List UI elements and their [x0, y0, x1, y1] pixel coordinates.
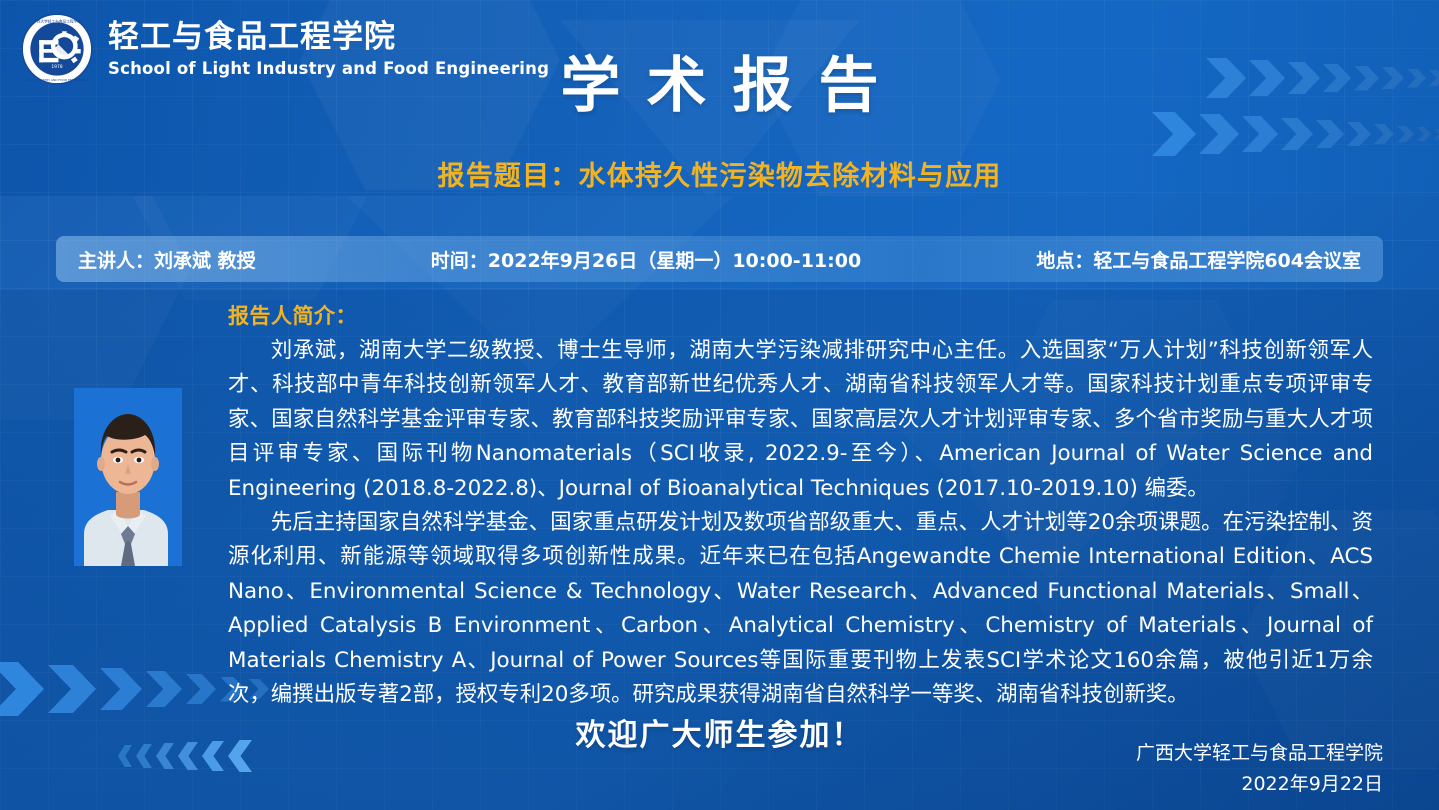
- chevron-right-icon: [1397, 126, 1414, 143]
- bio-heading: 报告人简介：: [228, 300, 357, 330]
- chevron-right-icon: [1242, 116, 1278, 152]
- signature-organization: 广西大学轻工与食品工程学院: [1136, 738, 1383, 769]
- chevron-right-icon: [1281, 118, 1313, 150]
- speaker-portrait: [74, 388, 182, 566]
- chevron-right-icon: [1434, 129, 1439, 140]
- event-info-bar: 主讲人：刘承斌 教授 时间：2022年9月26日（星期一）10:00-11:00…: [56, 236, 1383, 282]
- signature-block: 广西大学轻工与食品工程学院 2022年9月22日: [1136, 738, 1383, 801]
- speaker-info: 主讲人：刘承斌 教授: [78, 246, 256, 273]
- page-title: 学术报告: [0, 56, 1439, 116]
- bio-paragraph-2: 先后主持国家自然科学基金、国家重点研发计划及数项省部级重大、重点、人才计划等20…: [228, 506, 1373, 712]
- portrait-image: [74, 388, 182, 566]
- chevron-right-icon: [1316, 120, 1344, 148]
- time-info: 时间：2022年9月26日（星期一）10:00-11:00: [256, 246, 1037, 273]
- chevron-decoration-mid-right: [1152, 112, 1439, 156]
- chevron-right-icon: [146, 671, 182, 707]
- svg-text:广西大学轻工与食品工程学院: 广西大学轻工与食品工程学院: [33, 18, 81, 23]
- bio-text: 刘承斌，湖南大学二级教授、博士生导师，湖南大学污染减排研究中心主任。入选国家“万…: [228, 334, 1373, 712]
- chevron-right-icon: [100, 668, 142, 710]
- report-subtitle: 报告题目：水体持久性污染物去除材料与应用: [0, 160, 1439, 194]
- chevron-right-icon: [1152, 112, 1196, 156]
- chevron-right-icon: [1347, 122, 1371, 146]
- chevron-right-icon: [186, 674, 216, 704]
- chevron-right-icon: [48, 665, 96, 713]
- signature-date: 2022年9月22日: [1136, 769, 1383, 800]
- chevron-right-icon: [1199, 114, 1239, 154]
- chevron-right-icon: [1374, 124, 1394, 144]
- poster-header: 1978 广西大学轻工与食品工程学院 LIGHT INDUSTRY AND FO…: [0, 0, 1439, 196]
- chevron-right-icon: [0, 662, 44, 716]
- chevron-right-icon: [1417, 127, 1431, 141]
- bio-paragraph-1: 刘承斌，湖南大学二级教授、博士生导师，湖南大学污染减排研究中心主任。入选国家“万…: [228, 334, 1373, 506]
- school-name-cn: 轻工与食品工程学院: [108, 20, 549, 55]
- poster-canvas: 1978 广西大学轻工与食品工程学院 LIGHT INDUSTRY AND FO…: [0, 0, 1439, 810]
- location-info: 地点：轻工与食品工程学院604会议室: [1036, 246, 1361, 273]
